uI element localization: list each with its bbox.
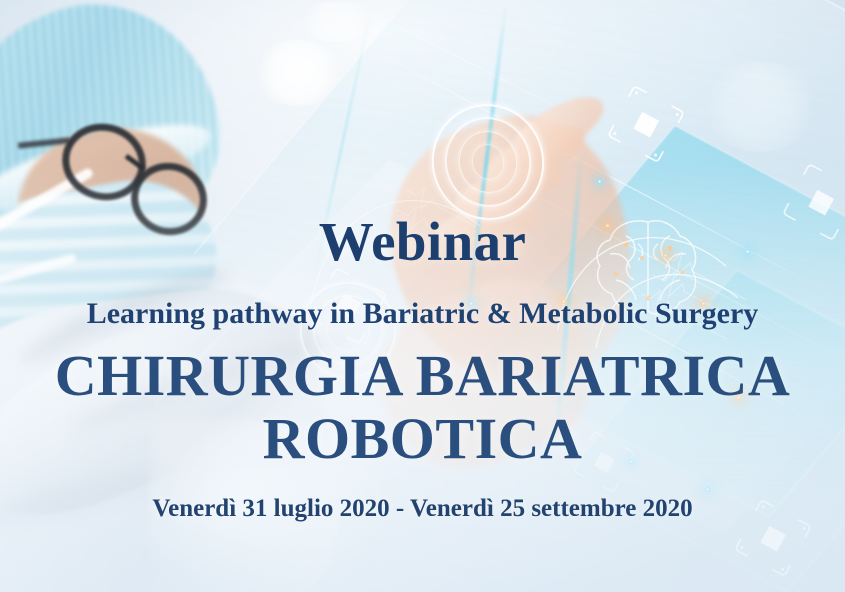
poster-text-block: Webinar Learning pathway in Bariatric & … bbox=[0, 0, 845, 592]
poster-title-line-1: CHIRURGIA BARIATRICA bbox=[55, 345, 791, 408]
poster-dates: Venerdì 31 luglio 2020 - Venerdì 25 sett… bbox=[152, 496, 692, 521]
webinar-poster: Webinar Learning pathway in Bariatric & … bbox=[0, 0, 845, 592]
poster-title: CHIRURGIA BARIATRICA ROBOTICA bbox=[55, 345, 791, 470]
poster-title-line-2: ROBOTICA bbox=[55, 408, 791, 471]
poster-subtitle: Learning pathway in Bariatric & Metaboli… bbox=[87, 299, 759, 329]
event-type-label: Webinar bbox=[319, 214, 527, 269]
